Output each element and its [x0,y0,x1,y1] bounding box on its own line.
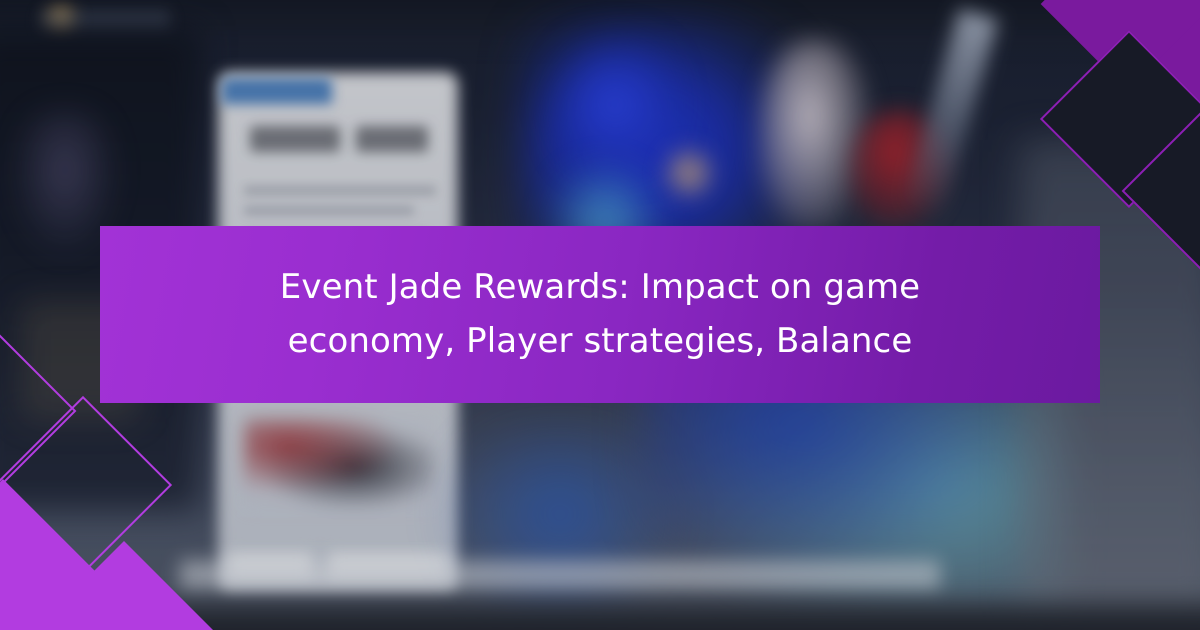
title-banner: Event Jade Rewards: Impact on game econo… [100,226,1100,403]
share-card-root: Event Jade Rewards: Impact on game econo… [0,0,1200,630]
page-title: Event Jade Rewards: Impact on game econo… [260,261,940,368]
decoration-bottom-left [0,410,260,630]
decoration-top-right [940,0,1200,230]
